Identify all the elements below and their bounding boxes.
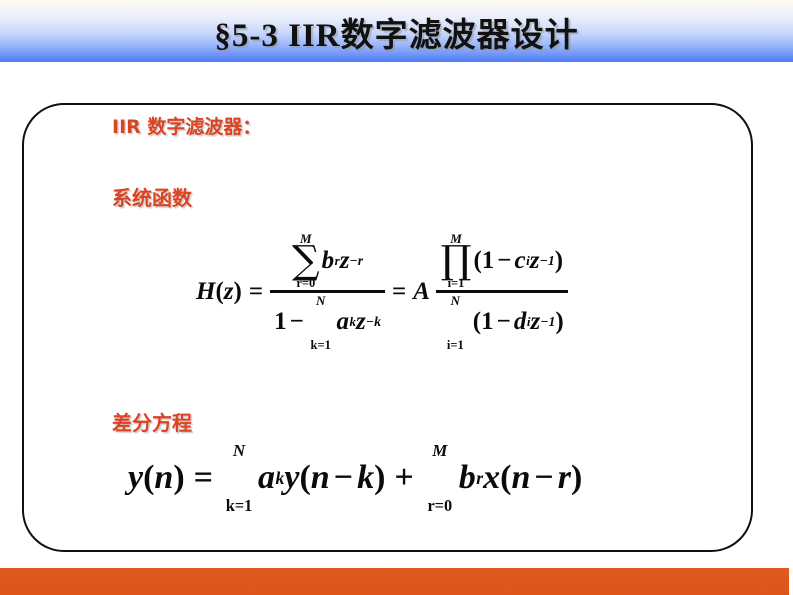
feedforward-term: brx(n−r) — [459, 459, 583, 497]
diff-coefficient-b: b — [459, 459, 476, 497]
slide-title: §5-3 IIR数字滤波器设计 — [0, 8, 793, 56]
diff-y-paren-close: ) — [374, 459, 385, 497]
product-upper-limit-N: N — [451, 294, 460, 307]
yn-variable: n — [154, 459, 173, 497]
heading-system-function: 系统函数 — [112, 182, 192, 211]
product-lower-limit-i1-num: i=1 — [448, 277, 465, 290]
diff-x-paren-close: ) — [571, 459, 582, 497]
zero-minus: − — [497, 247, 511, 275]
heading-iir-digital-filter: IIR 数字滤波器： — [112, 112, 261, 139]
hz-paren-open: ( — [215, 278, 223, 306]
summation-operator-feedback: N ∑ k=1 — [222, 442, 256, 514]
pole-one: 1 — [481, 308, 494, 336]
diff-equals-sign: = — [194, 459, 213, 497]
diff-x-minus: − — [534, 459, 553, 497]
pole-z-exponent: −1 — [540, 314, 555, 330]
feedforward-sum-lower-limit-r0: r=0 — [427, 498, 452, 514]
yn-paren-open: ( — [143, 459, 154, 497]
equals-sign-2: = — [392, 278, 406, 306]
pole-paren-close: ) — [555, 308, 563, 336]
hz-function-name: H — [196, 278, 215, 306]
diff-x-paren-open: ( — [500, 459, 511, 497]
denominator-one: 1 — [274, 308, 287, 336]
coefficient-a: a — [337, 308, 350, 336]
fraction-bar-main — [270, 290, 385, 293]
diff-y-minus: − — [334, 459, 353, 497]
fraction-denominator-sum: 1 − N ∑ k=1 akz−k — [270, 294, 385, 351]
pi-product-icon: ∏ — [441, 245, 472, 277]
hz-paren-close: ) — [234, 278, 242, 306]
pole-paren-open: ( — [473, 308, 481, 336]
summation-lower-limit-k1: k=1 — [311, 339, 331, 352]
diff-x-n: n — [512, 459, 531, 497]
z-exponent-denominator: −k — [366, 314, 381, 330]
zero-factor-term: (1−ciz−1) — [473, 247, 563, 275]
hz-variable: z — [224, 278, 234, 306]
pole-z-variable: z — [530, 308, 540, 336]
zero-z-exponent: −1 — [539, 253, 554, 269]
summation-operator-numerator: M ∑ r=0 — [292, 232, 320, 289]
feedback-sum-upper-limit-N: N — [233, 442, 245, 459]
fraction-numerator-product: M ∏ i=1 (1−ciz−1) — [437, 232, 567, 289]
pole-factor-term: (1−diz−1) — [473, 308, 564, 336]
denominator-minus: − — [290, 308, 304, 336]
numerator-term: brz−r — [322, 247, 363, 275]
zero-coefficient-c: c — [515, 247, 526, 275]
feedback-sum-lower-limit-k1: k=1 — [226, 498, 253, 514]
sigma-icon: ∑ — [292, 245, 320, 277]
heading-difference-equation: 差分方程 — [112, 407, 192, 436]
gain-constant-A: A — [413, 278, 430, 306]
summation-operator-feedforward: M ∑ r=0 — [423, 442, 457, 514]
zero-one: 1 — [482, 247, 495, 275]
footer-orange-bar — [0, 568, 789, 595]
denominator-term: akz−k — [337, 308, 381, 336]
pole-minus: − — [497, 308, 511, 336]
summation-operator-denominator: N ∑ k=1 — [307, 294, 335, 351]
zero-z-variable: z — [530, 247, 540, 275]
equals-sign-1: = — [249, 278, 263, 306]
z-variable-numerator: z — [340, 247, 350, 275]
diff-x-function: x — [483, 459, 500, 497]
pole-coefficient-d: d — [514, 308, 527, 336]
equation-transfer-function: H(z) = M ∑ r=0 brz−r 1 − N ∑ — [196, 232, 568, 351]
summation-upper-limit-N: N — [316, 294, 325, 307]
fraction-product-ratio: M ∏ i=1 (1−ciz−1) N ∏ i=1 (1−diz−1) — [436, 232, 568, 351]
fraction-sum-ratio: M ∑ r=0 brz−r 1 − N ∑ k=1 akz−k — [270, 232, 385, 351]
feedback-term: aky(n−k) — [258, 459, 385, 497]
diff-y-k: k — [357, 459, 374, 497]
footer-bar-fill — [0, 568, 789, 595]
z-exponent-numerator: −r — [349, 253, 363, 269]
diff-y-function: y — [284, 459, 299, 497]
diff-plus-sign: + — [394, 459, 413, 497]
yn-function-name: y — [128, 459, 143, 497]
diff-x-r: r — [558, 459, 571, 497]
yn-paren-close: ) — [173, 459, 184, 497]
fraction-numerator-sum: M ∑ r=0 brz−r — [288, 232, 367, 289]
diff-y-n: n — [311, 459, 330, 497]
fraction-denominator-product: N ∏ i=1 (1−diz−1) — [436, 294, 568, 351]
z-variable-denominator: z — [356, 308, 366, 336]
diff-y-paren-open: ( — [299, 459, 310, 497]
coefficient-b: b — [322, 247, 335, 275]
zero-paren-close: ) — [555, 247, 563, 275]
zero-paren-open: ( — [473, 247, 481, 275]
product-operator-numerator: M ∏ i=1 — [441, 232, 472, 289]
diff-coefficient-a: a — [258, 459, 275, 497]
summation-lower-limit-r0: r=0 — [296, 277, 315, 290]
feedforward-sum-upper-limit-M: M — [432, 442, 447, 459]
product-lower-limit-i1-den: i=1 — [447, 339, 464, 352]
equation-difference: y(n) = N ∑ k=1 aky(n−k) + M ∑ r=0 brx(n−… — [128, 442, 582, 514]
product-operator-denominator: N ∏ i=1 — [440, 294, 471, 351]
